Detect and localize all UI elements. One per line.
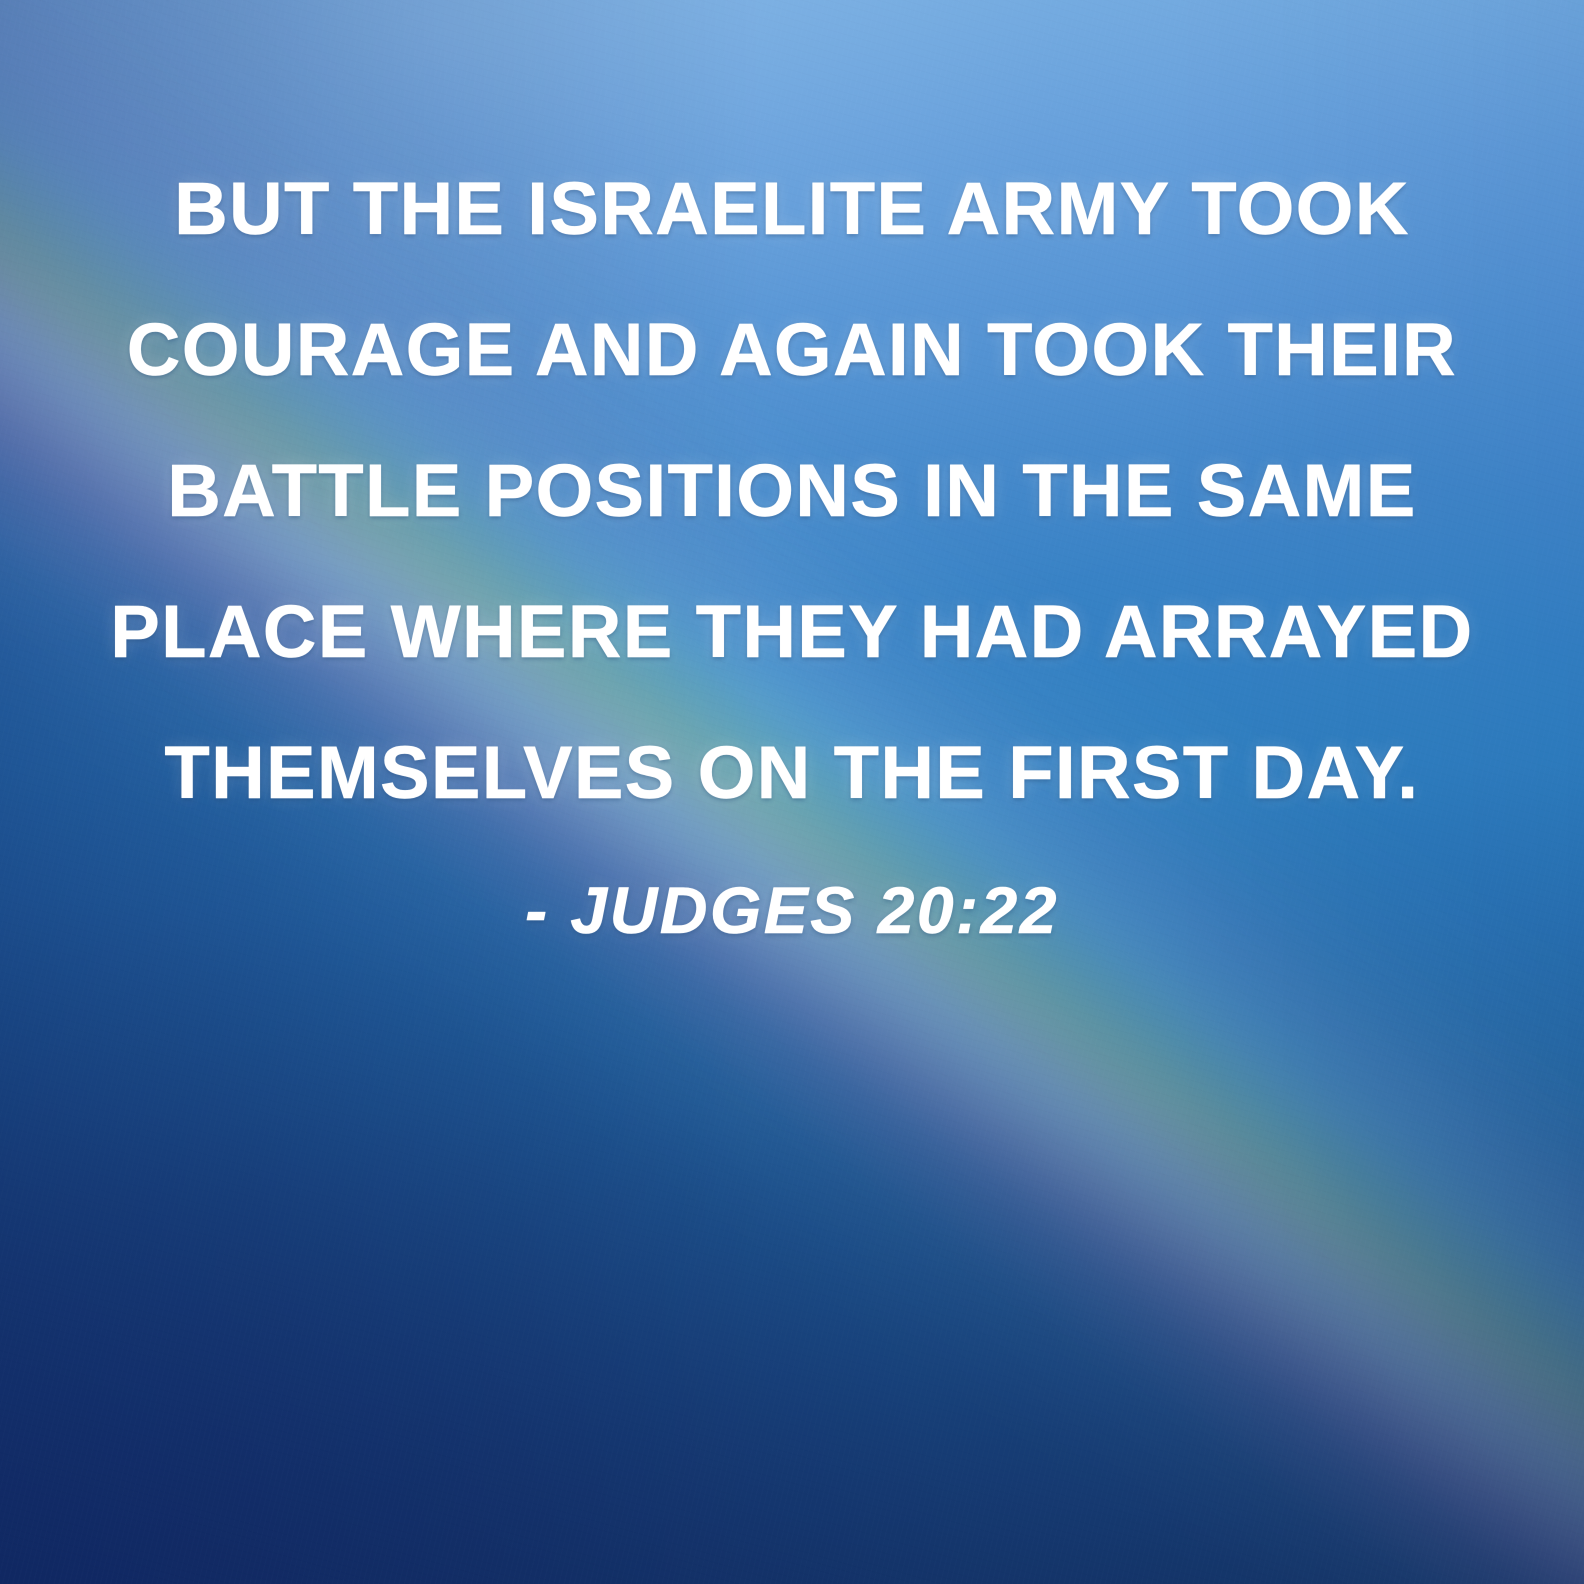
verse-line: COURAGE AND AGAIN TOOK THEIR [86,279,1498,420]
attribution-text: - JUDGES 20:22 [525,872,1059,948]
verse-line: BATTLE POSITIONS IN THE SAME [86,420,1498,561]
verse-line: THEMSELVES ON THE FIRST DAY. [86,702,1498,843]
verse-text-block: BUT THE ISRAELITE ARMY TOOK COURAGE AND … [0,138,1584,843]
verse-line: PLACE WHERE THEY HAD ARRAYED [86,561,1498,702]
verse-attribution: - JUDGES 20:22 [0,872,1584,948]
verse-image-canvas: BUT THE ISRAELITE ARMY TOOK COURAGE AND … [0,0,1584,1584]
verse-line: BUT THE ISRAELITE ARMY TOOK [86,138,1498,279]
